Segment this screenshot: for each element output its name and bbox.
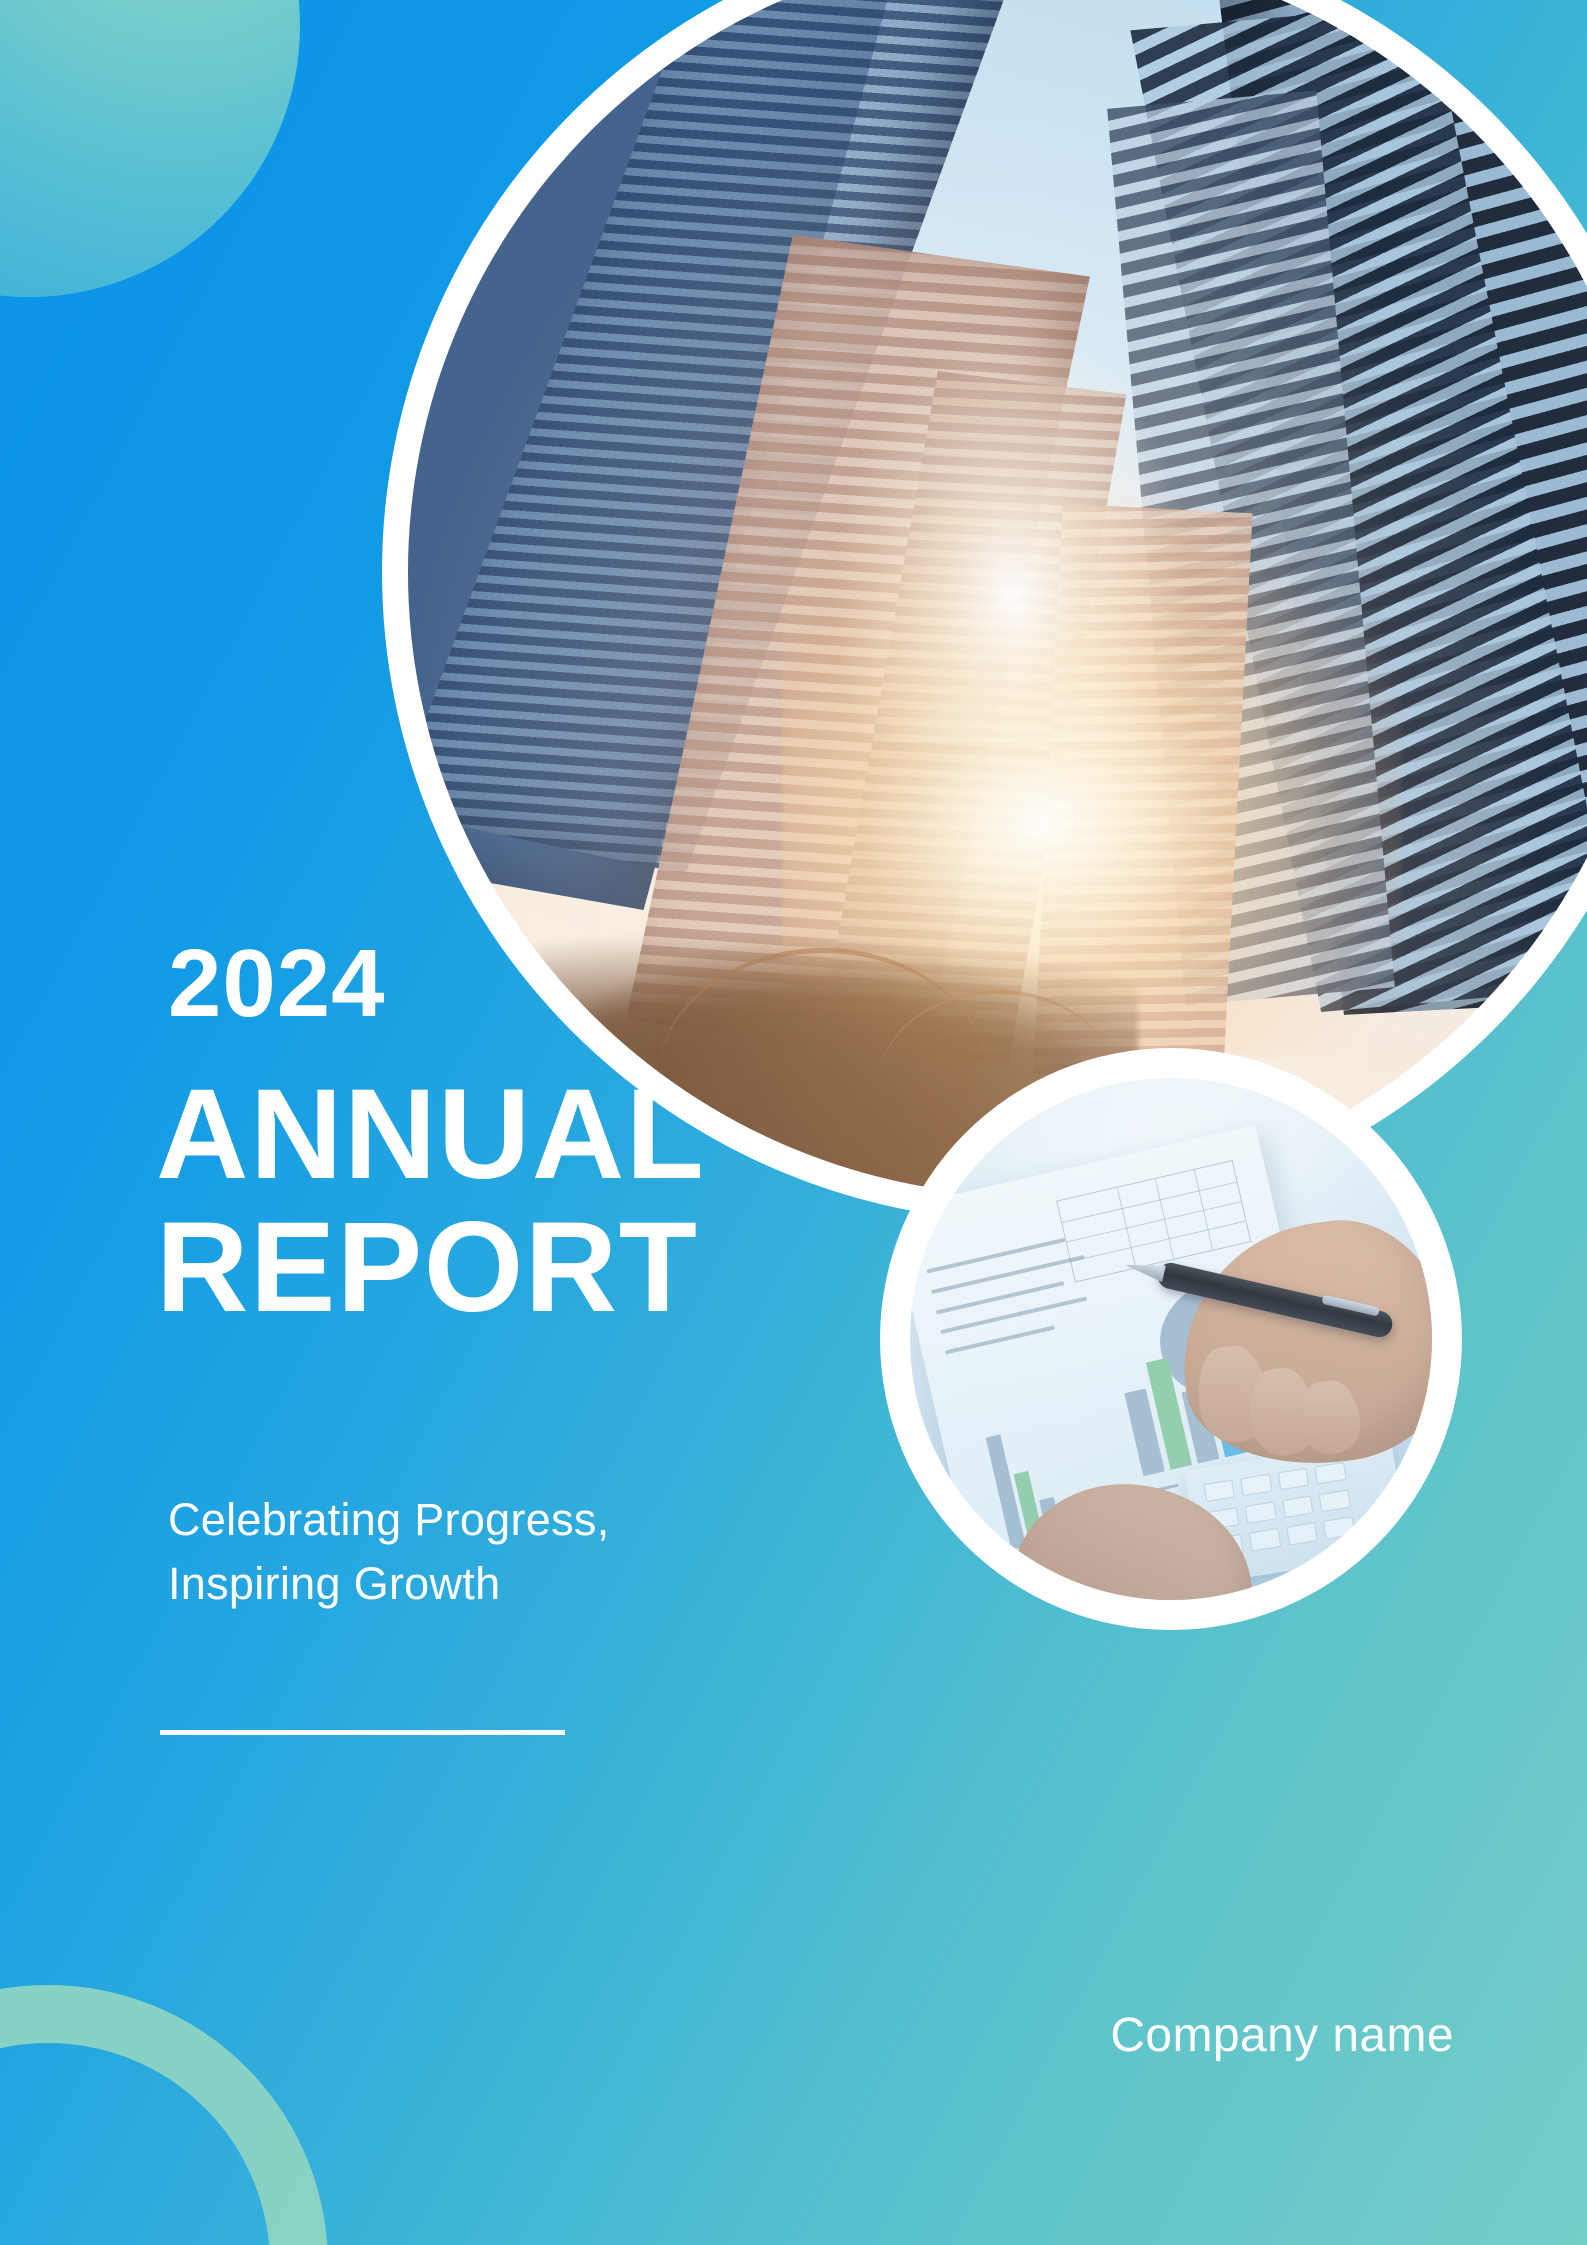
hero-photo-frame — [382, 0, 1587, 1222]
decorative-circle-top-left — [0, 0, 300, 297]
tagline-line-1: Celebrating Progress, — [168, 1494, 610, 1545]
company-name: Company name — [1110, 2008, 1454, 2063]
report-year: 2024 — [168, 936, 386, 1032]
report-cover: 2024 ANNUAL REPORT Celebrating Progress,… — [0, 0, 1587, 2245]
tagline: Celebrating Progress, Inspiring Growth — [168, 1488, 610, 1616]
business-analysis-photo — [910, 1078, 1432, 1600]
tagline-line-2: Inspiring Growth — [168, 1558, 500, 1609]
title-line-1: ANNUAL — [156, 1063, 705, 1206]
page-title: ANNUAL REPORT — [156, 1068, 705, 1334]
photo-tint-overlay — [910, 1078, 1432, 1600]
city-skyscrapers-photo — [408, 0, 1587, 1196]
decorative-ring-bottom-left — [0, 1985, 328, 2245]
title-line-2: REPORT — [156, 1201, 705, 1334]
warm-light-overlay — [408, 0, 1587, 1196]
divider-rule — [160, 1730, 565, 1735]
secondary-photo-frame — [880, 1048, 1462, 1630]
